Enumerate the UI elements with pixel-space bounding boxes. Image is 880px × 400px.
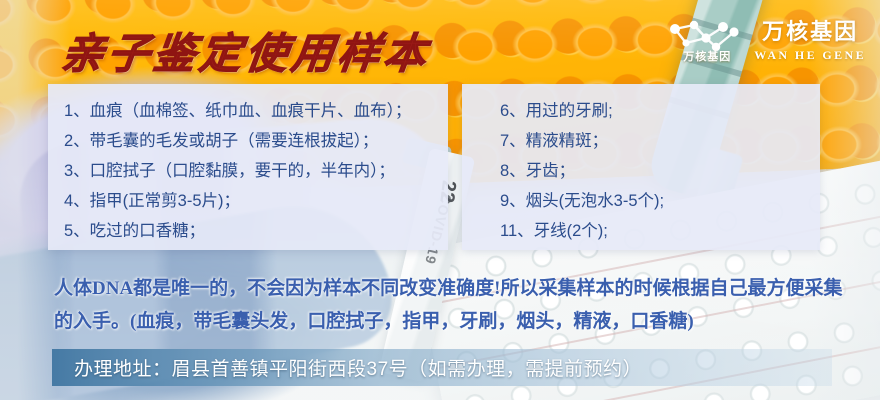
list-item: 9、烟头(无泡水3-5个); [500,186,820,216]
brand-logo: 万核基因 万核基因 WAN HE GENE [666,14,866,63]
address-text: 办理地址：眉县首善镇平阳街西段37号（如需办理，需提前预约） [52,354,642,381]
list-item: 6、用过的牙刷; [500,96,820,126]
list-item: 7、精液精斑； [500,126,820,156]
list-item: 11、牙线(2个); [500,216,820,246]
sample-list-right: 6、用过的牙刷; 7、精液精斑； 8、牙齿； 9、烟头(无泡水3-5个); 11… [462,84,820,246]
poster-content: 亲子鉴定使用样本 [0,0,880,400]
list-item: 2、带毛囊的毛发或胡子（需要连根拔起）； [64,126,448,156]
dna-molecule-icon: 万核基因 [666,16,744,62]
list-item: 4、指甲(正常剪3-5片)； [64,186,448,216]
brand-name-en: WAN HE GENE [754,48,866,63]
logo-mark-caption: 万核基因 [668,48,746,64]
sample-list-left-panel: 1、血痕（血棉签、纸巾血、血痕干片、血布）； 2、带毛囊的毛发或胡子（需要连根拔… [48,84,448,250]
address-banner: 办理地址：眉县首善镇平阳街西段37号（如需办理，需提前预约） [52,349,832,386]
list-item: 1、血痕（血棉签、纸巾血、血痕干片、血布）； [64,96,448,126]
list-item: 3、口腔拭子（口腔黏膜，要干的，半年内）； [64,156,448,186]
sample-list-right-panel: 6、用过的牙刷; 7、精液精斑； 8、牙齿； 9、烟头(无泡水3-5个); 11… [462,84,820,250]
brand-name-cn: 万核基因 [762,14,858,46]
page-title: 亲子鉴定使用样本 [58,20,434,81]
sample-list-left: 1、血痕（血棉签、纸巾血、血痕干片、血布）； 2、带毛囊的毛发或胡子（需要连根拔… [48,84,448,246]
brand-name-block: 万核基因 WAN HE GENE [754,14,866,63]
poster-root: 22 COVID-19 亲子鉴定使用样本 [0,0,880,400]
list-item: 8、牙齿； [500,156,820,186]
list-item: 5、吃过的口香糖； [64,216,448,246]
description-paragraph: 人体DNA都是唯一的，不会因为样本不同改变准确度!所以采集样本的时候根据自己最方… [54,272,844,338]
